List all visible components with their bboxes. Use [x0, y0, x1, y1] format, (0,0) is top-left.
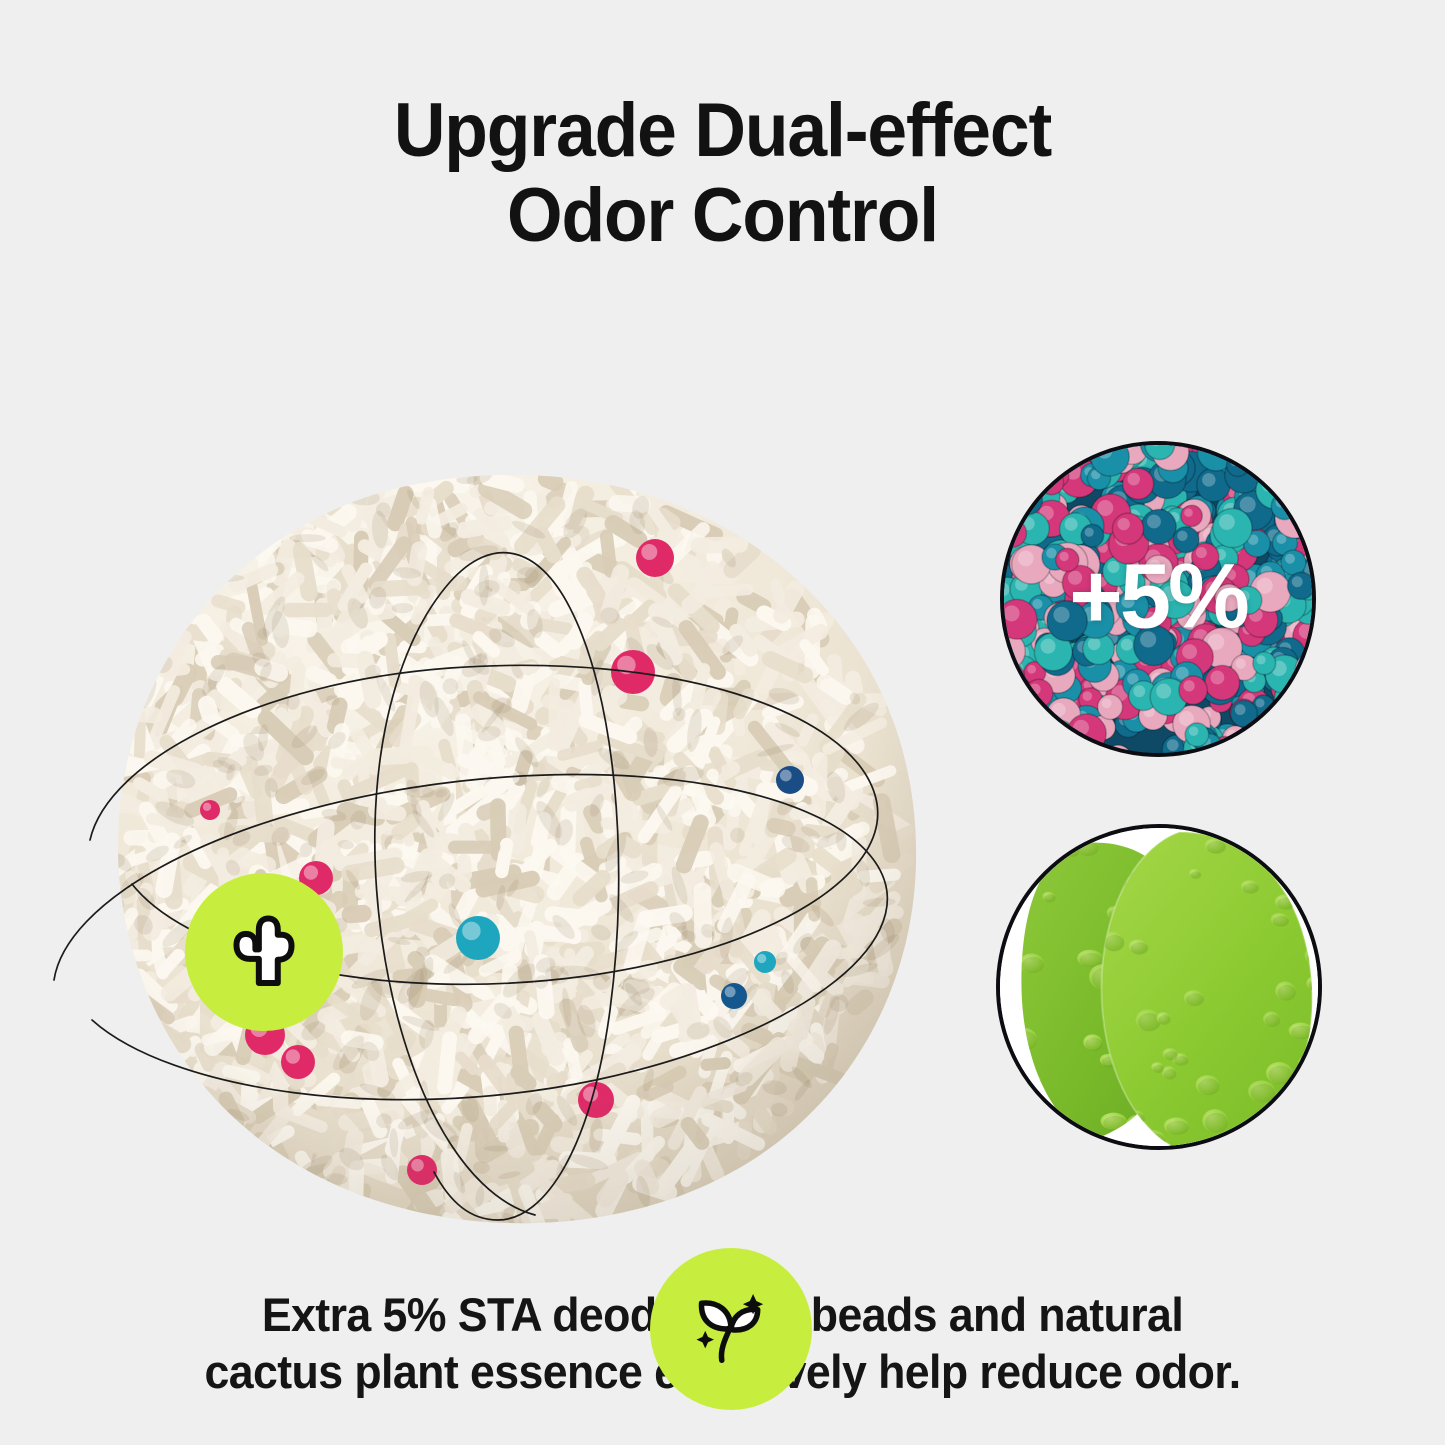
deodorizing-beads-circle[interactable]: +5% [1000, 441, 1316, 757]
orbit-ring-vertical [375, 553, 619, 1220]
beads-percent-label: +5% [1004, 544, 1312, 649]
orbit-ring-tilted-left [54, 774, 887, 1099]
cactus-pad-circle[interactable] [996, 824, 1322, 1150]
page-title-line-1: Upgrade Dual-effect [43, 88, 1401, 173]
cactus-badge[interactable] [185, 873, 343, 1031]
page-title-line-2: Odor Control [43, 173, 1401, 258]
orbit-rings [30, 290, 980, 1240]
sprout-leaf-icon [685, 1283, 777, 1375]
cactus-pad-photo [998, 826, 1320, 1148]
page-title: Upgrade Dual-effect Odor Control [43, 88, 1401, 258]
sprout-badge[interactable] [650, 1248, 812, 1410]
cactus-icon [221, 909, 307, 995]
hero-composition [30, 290, 980, 1240]
product-infographic: Upgrade Dual-effect Odor Control [0, 0, 1445, 1445]
